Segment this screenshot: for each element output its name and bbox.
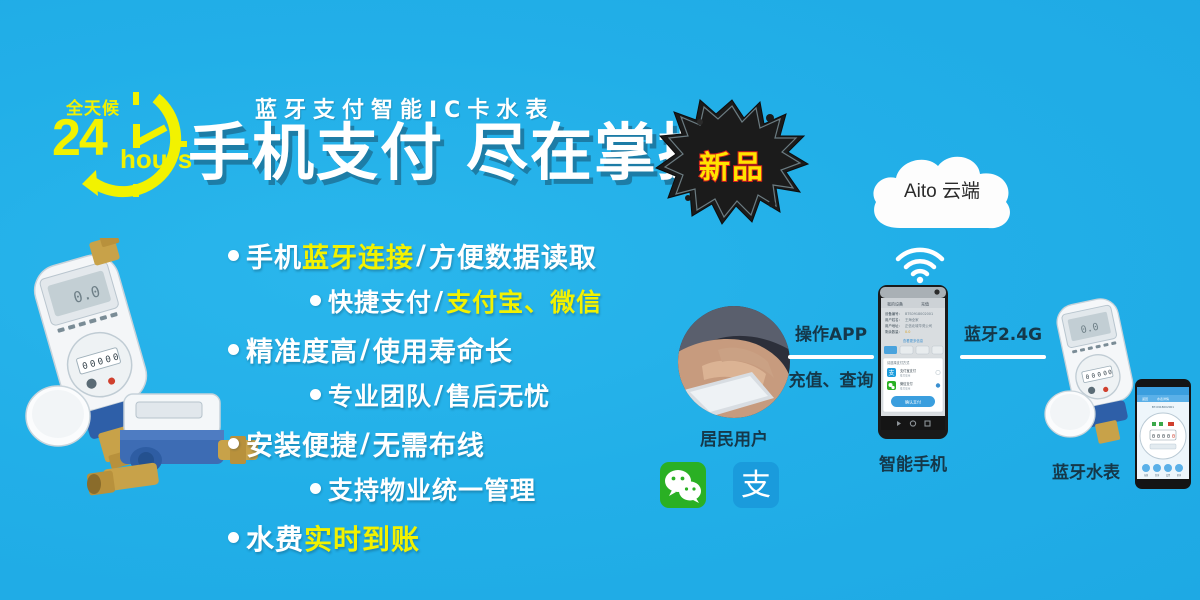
cloud-label: Aito 云端 bbox=[862, 176, 1022, 203]
svg-text:充值: 充值 bbox=[921, 301, 929, 307]
feature-pre: 水费 bbox=[246, 518, 304, 558]
smartphone-label: 智能手机 bbox=[852, 450, 974, 475]
feature-sep: / bbox=[432, 286, 446, 315]
connector-label-operate-app: 操作APP bbox=[788, 320, 874, 345]
svg-text:BT-0918002001: BT-0918002001 bbox=[1152, 405, 1174, 409]
connector-line-1 bbox=[788, 355, 874, 359]
alipay-icon[interactable]: 支 bbox=[733, 462, 779, 508]
feature-highlight: 蓝牙连接 bbox=[302, 236, 414, 275]
connector-line-2 bbox=[960, 355, 1046, 359]
feature-post: 支付宝、微信 bbox=[446, 283, 602, 319]
svg-text:支付宝支付: 支付宝支付 bbox=[900, 368, 917, 373]
svg-text:推荐使用: 推荐使用 bbox=[900, 374, 911, 378]
connector-label-recharge-query: 充值、查询 bbox=[780, 366, 882, 391]
feature-pre: 支持物业统一管理 bbox=[328, 471, 536, 507]
svg-text:推荐使用: 推荐使用 bbox=[900, 387, 911, 391]
feature-post: 售后无忧 bbox=[446, 377, 550, 413]
feature-item: 手机蓝牙连接 / 方便数据读取 bbox=[228, 234, 698, 277]
svg-text:确认支付: 确认支付 bbox=[905, 399, 921, 405]
promotional-banner: 全天候 24 hours 蓝牙支付智能IC卡水表 手机支付尽在掌握 新品 0.0 bbox=[0, 0, 1200, 600]
banner-headline: 手机支付尽在掌握 bbox=[188, 120, 722, 185]
svg-text:0: 0 bbox=[1167, 434, 1170, 440]
bullet-dot-icon bbox=[228, 344, 239, 355]
feature-highlight: 实时到账 bbox=[304, 518, 420, 558]
feature-pre: 精准度高 bbox=[246, 330, 358, 369]
feature-item: 精准度高 / 使用寿命长 bbox=[228, 328, 698, 371]
svg-text:正信北城华苑公司: 正信北城华苑公司 bbox=[905, 323, 932, 328]
svg-text:查看更多信息: 查看更多信息 bbox=[903, 338, 924, 343]
svg-text:BTS0918002001: BTS0918002001 bbox=[905, 312, 933, 316]
svg-text:用户姓名：: 用户姓名： bbox=[885, 317, 902, 322]
bullet-dot-icon bbox=[310, 389, 321, 400]
svg-text:水表详情: 水表详情 bbox=[1157, 396, 1169, 401]
feature-item: 水费实时到账 bbox=[228, 516, 698, 559]
bluetooth-water-meter-label: 蓝牙水表 bbox=[1022, 458, 1150, 483]
feature-item: 安装便捷 / 无需布线 bbox=[228, 422, 698, 465]
bullet-dot-icon bbox=[228, 532, 239, 543]
feature-pre: 专业团队 bbox=[328, 377, 432, 413]
svg-text:支: 支 bbox=[741, 468, 771, 503]
feature-sep: / bbox=[358, 428, 373, 459]
twentyfour-hours-badge: 全天候 24 hours bbox=[48, 84, 193, 202]
headline-part-1: 手机支付 bbox=[188, 116, 444, 189]
svg-text:0.0: 0.0 bbox=[905, 330, 910, 334]
feature-pre: 手机 bbox=[246, 236, 302, 275]
svg-text:微信支付: 微信支付 bbox=[900, 381, 914, 386]
feature-pre: 快捷支付 bbox=[328, 283, 432, 319]
badge-hours-text: hours bbox=[120, 146, 192, 172]
feature-sep: / bbox=[414, 240, 429, 271]
bullet-dot-icon bbox=[310, 295, 321, 306]
svg-text:0: 0 bbox=[1157, 434, 1160, 440]
feature-item: 快捷支付 / 支付宝、微信 bbox=[310, 279, 698, 322]
meter-app-phone-mockup: 返回 水表详情 BT-0918002001 000 00 充值查询设置更多 bbox=[1134, 378, 1192, 490]
svg-text:0: 0 bbox=[1152, 434, 1155, 440]
wifi-signal bbox=[893, 246, 947, 284]
svg-text:返回: 返回 bbox=[1142, 396, 1148, 401]
new-product-label: 新品 bbox=[652, 142, 812, 187]
feature-pre: 安装便捷 bbox=[246, 424, 358, 463]
feature-post: 无需布线 bbox=[373, 424, 485, 463]
feature-list: 手机蓝牙连接 / 方便数据读取 快捷支付 / 支付宝、微信 精准度高 / 使用寿… bbox=[228, 234, 698, 559]
feature-item: 支持物业统一管理 bbox=[310, 467, 698, 510]
wifi-icon bbox=[893, 246, 947, 284]
svg-text:王海全家: 王海全家 bbox=[905, 317, 919, 322]
svg-text:用户地址：: 用户地址： bbox=[885, 323, 902, 328]
svg-text:剩余数量：: 剩余数量： bbox=[885, 329, 902, 334]
feature-item: 专业团队 / 售后无忧 bbox=[310, 373, 698, 416]
bullet-dot-icon bbox=[228, 438, 239, 449]
feature-post: 使用寿命长 bbox=[373, 330, 513, 369]
svg-text:我的设备: 我的设备 bbox=[887, 301, 903, 307]
resident-user-photo bbox=[678, 306, 790, 418]
cloud-server-node: Aito 云端 bbox=[862, 148, 1022, 240]
svg-text:设备编号：: 设备编号： bbox=[885, 311, 902, 316]
feature-sep: / bbox=[358, 334, 373, 365]
svg-text:0: 0 bbox=[1162, 434, 1165, 440]
bullet-dot-icon bbox=[228, 250, 239, 261]
badge-number: 24 bbox=[52, 112, 106, 164]
bullet-dot-icon bbox=[310, 483, 321, 494]
feature-post: 方便数据读取 bbox=[429, 236, 597, 275]
wechat-pay-icon[interactable] bbox=[660, 462, 706, 508]
new-product-badge: 新品 bbox=[652, 92, 812, 227]
connector-label-bluetooth: 蓝牙2.4G bbox=[960, 320, 1046, 345]
svg-text:请选择支付方式: 请选择支付方式 bbox=[887, 360, 910, 365]
resident-user-label: 居民用户 bbox=[658, 425, 810, 450]
svg-text:支: 支 bbox=[888, 369, 894, 377]
svg-text:0: 0 bbox=[1172, 434, 1175, 440]
feature-sep: / bbox=[432, 380, 446, 409]
smartphone-mockup: 我的设备 充值 设备编号：BTS0918002001 用户姓名：王海全家 用户地… bbox=[877, 284, 949, 440]
